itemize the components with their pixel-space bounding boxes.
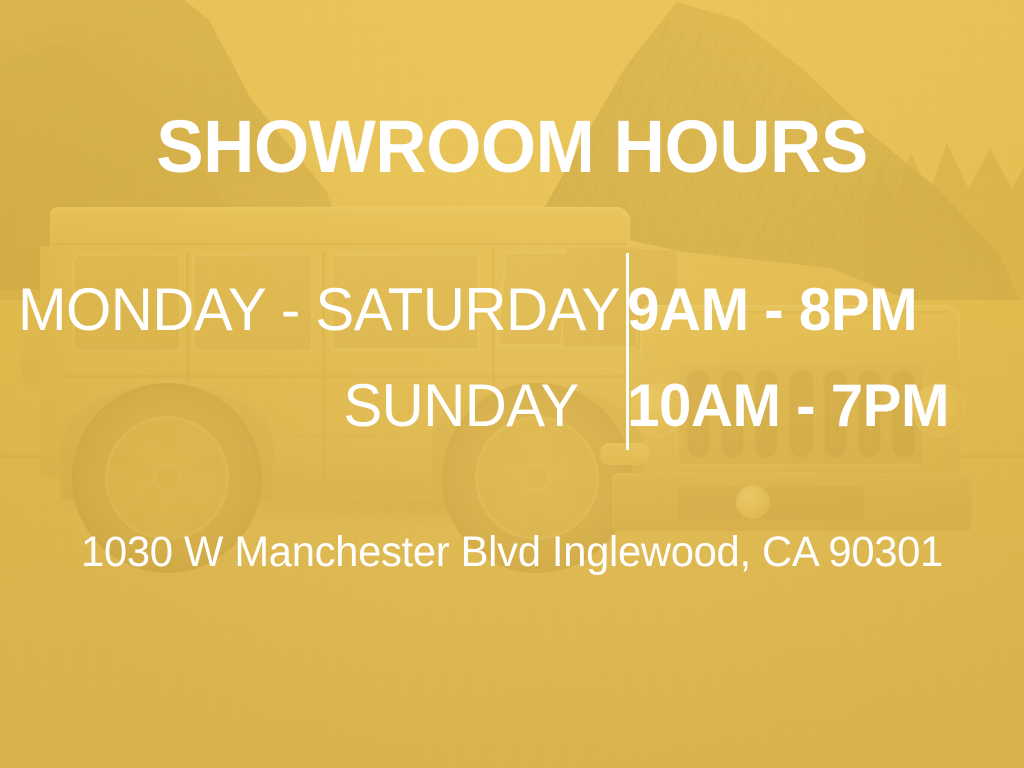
- hours-row: MONDAY - SATURDAY 9AM - 8PM: [0, 270, 1024, 350]
- address-line: 1030 W Manchester Blvd Inglewood, CA 903…: [15, 528, 1008, 576]
- hours-time-value: 10AM - 7PM: [600, 374, 1011, 438]
- hours-day-label: MONDAY - SATURDAY: [18, 278, 600, 342]
- hours-row: SUNDAY 10AM - 7PM: [0, 366, 1024, 446]
- hours-table: MONDAY - SATURDAY 9AM - 8PM SUNDAY 10AM …: [0, 270, 1024, 460]
- hours-time-value: 9AM - 8PM: [600, 278, 1011, 342]
- page-title: SHOWROOM HOURS: [20, 110, 1003, 184]
- slide-content: SHOWROOM HOURS MONDAY - SATURDAY 9AM - 8…: [0, 0, 1024, 768]
- showroom-hours-slide: SHOWROOM HOURS MONDAY - SATURDAY 9AM - 8…: [0, 0, 1024, 768]
- hours-day-label: SUNDAY: [18, 374, 600, 438]
